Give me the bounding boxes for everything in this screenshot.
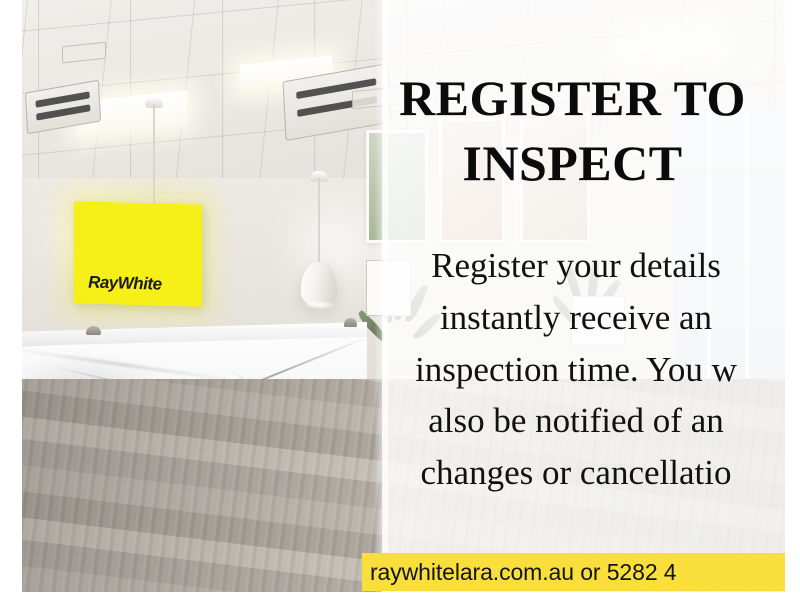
body-line-1: Register your details	[326, 240, 800, 292]
headline-line-1: REGISTER TO	[399, 70, 746, 126]
ray-white-wall-sign: RayWhite	[74, 201, 202, 307]
headline-line-2: INSPECT	[320, 131, 800, 196]
register-to-inspect-poster: RayWhite	[0, 0, 800, 600]
contact-bar-text: raywhitelara.com.au or 5282 4	[362, 559, 677, 586]
headline: REGISTER TO INSPECT	[320, 66, 800, 196]
body-line-5: changes or cancellatio	[326, 447, 800, 499]
body-line-3: inspection time. You w	[326, 344, 800, 396]
page-margin-left	[0, 0, 22, 600]
body-copy: Register your details instantly receive …	[326, 240, 800, 499]
logo-ray: Ray	[88, 272, 118, 292]
body-line-4: also be notified of an	[326, 395, 800, 447]
reception-bell	[86, 326, 101, 335]
logo-white: White	[118, 273, 162, 293]
contact-bar[interactable]: raywhitelara.com.au or 5282 4	[362, 553, 785, 591]
body-line-2: instantly receive an	[326, 292, 800, 344]
marble-vein	[22, 347, 242, 384]
ray-white-logo: RayWhite	[88, 272, 161, 294]
text-overlay: REGISTER TO INSPECT Register your detail…	[360, 0, 785, 600]
